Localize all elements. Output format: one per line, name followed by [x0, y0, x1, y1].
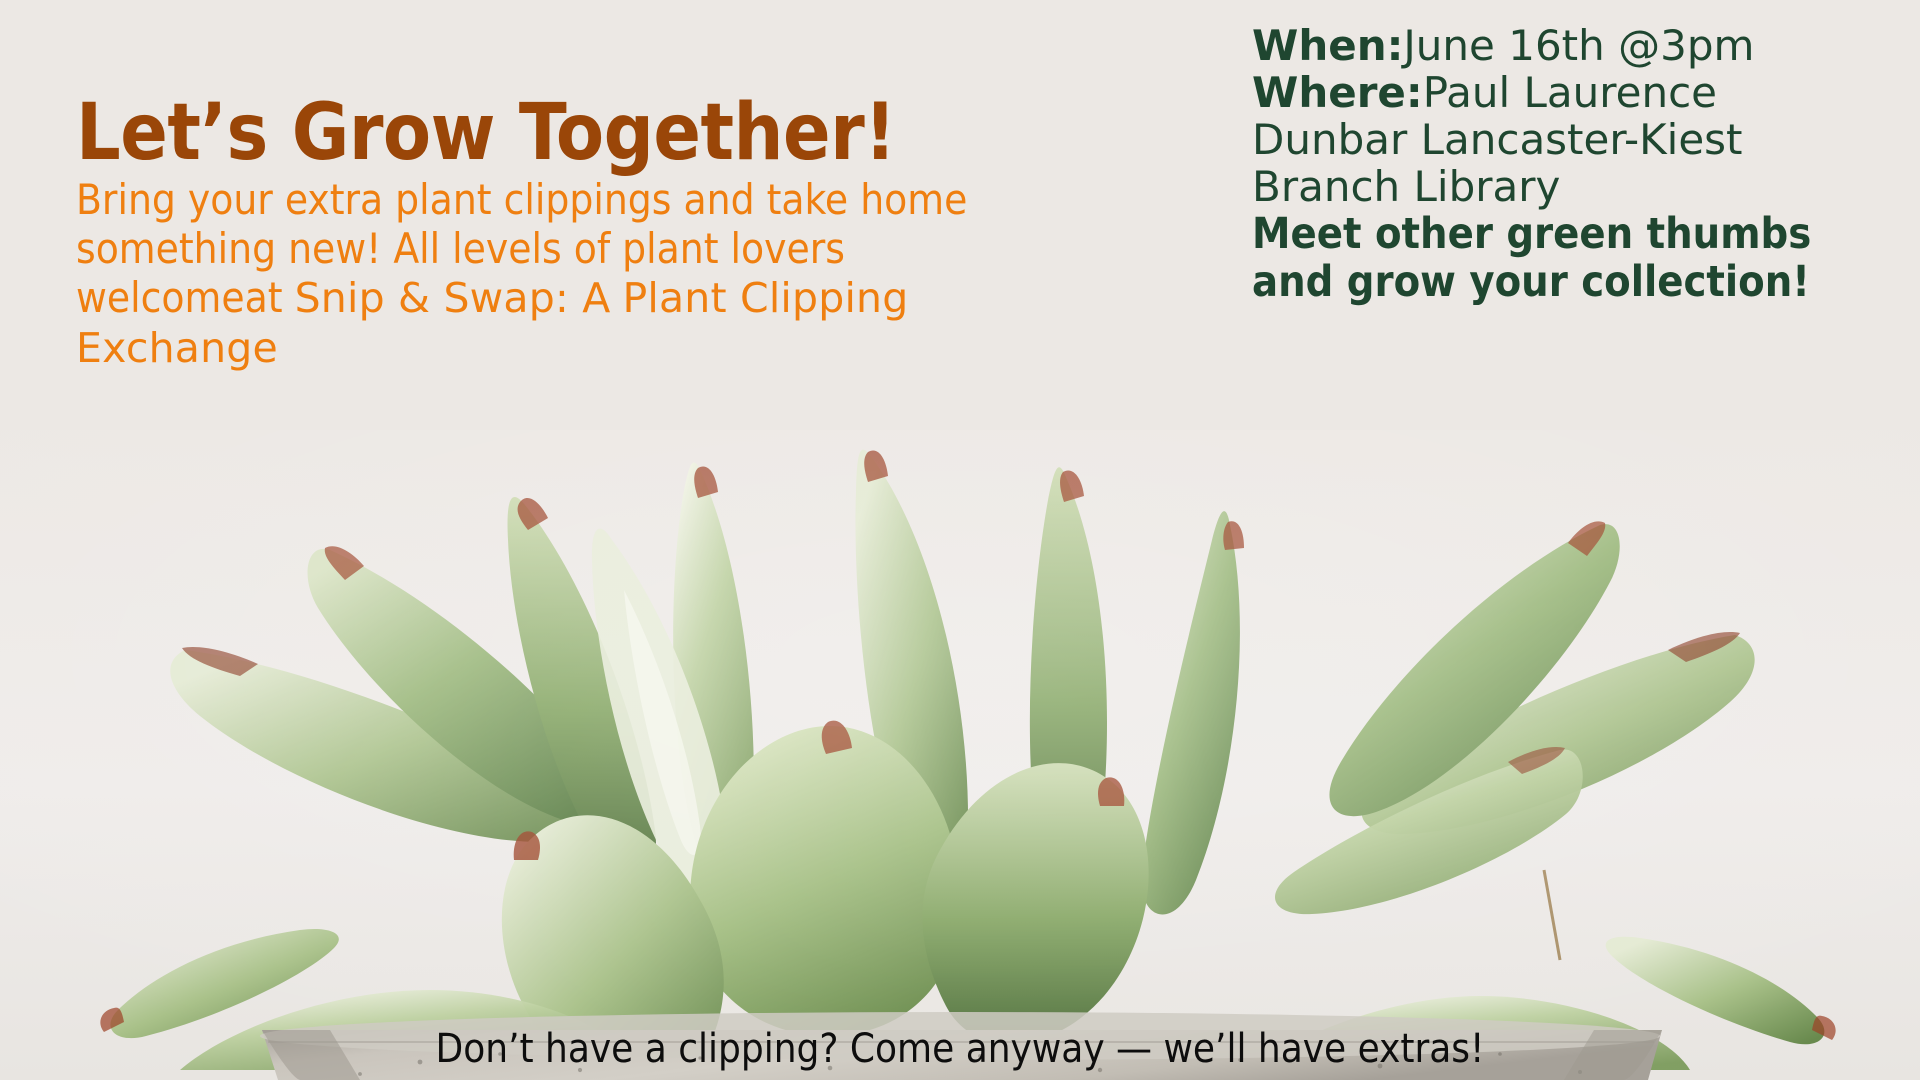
succulent-photo [0, 430, 1920, 1080]
address-line-1: Dunbar Lancaster-Kiest [1252, 116, 1892, 163]
event-name-part-1: Snip & Swap: A [295, 274, 611, 322]
footer-caption: Don’t have a clipping? Come anyway — we’… [0, 1026, 1920, 1072]
blurb-line-1: Bring your extra plant clippings and tak… [76, 175, 848, 224]
when-label: When: [1252, 21, 1403, 70]
cta-line-2: and grow your collection! [1252, 258, 1892, 306]
event-details: When:June 16th @3pm Where:Paul Laurence … [1252, 22, 1892, 306]
succulent-illustration [0, 430, 1920, 1080]
page-title: Let’s Grow Together! [76, 94, 896, 172]
address-line-2: Branch Library [1252, 163, 1892, 210]
where-label: Where: [1252, 68, 1423, 117]
where-value: Paul Laurence [1423, 68, 1717, 117]
when-line: When:June 16th @3pm [1252, 22, 1892, 69]
poster-canvas: Let’s Grow Together! Bring your extra pl… [0, 0, 1920, 1080]
cta-line-1: Meet other green thumbs [1252, 210, 1892, 258]
when-value: June 16th @3pm [1403, 21, 1754, 70]
where-line: Where:Paul Laurence [1252, 69, 1892, 116]
event-description: Bring your extra plant clippings and tak… [76, 175, 1016, 373]
